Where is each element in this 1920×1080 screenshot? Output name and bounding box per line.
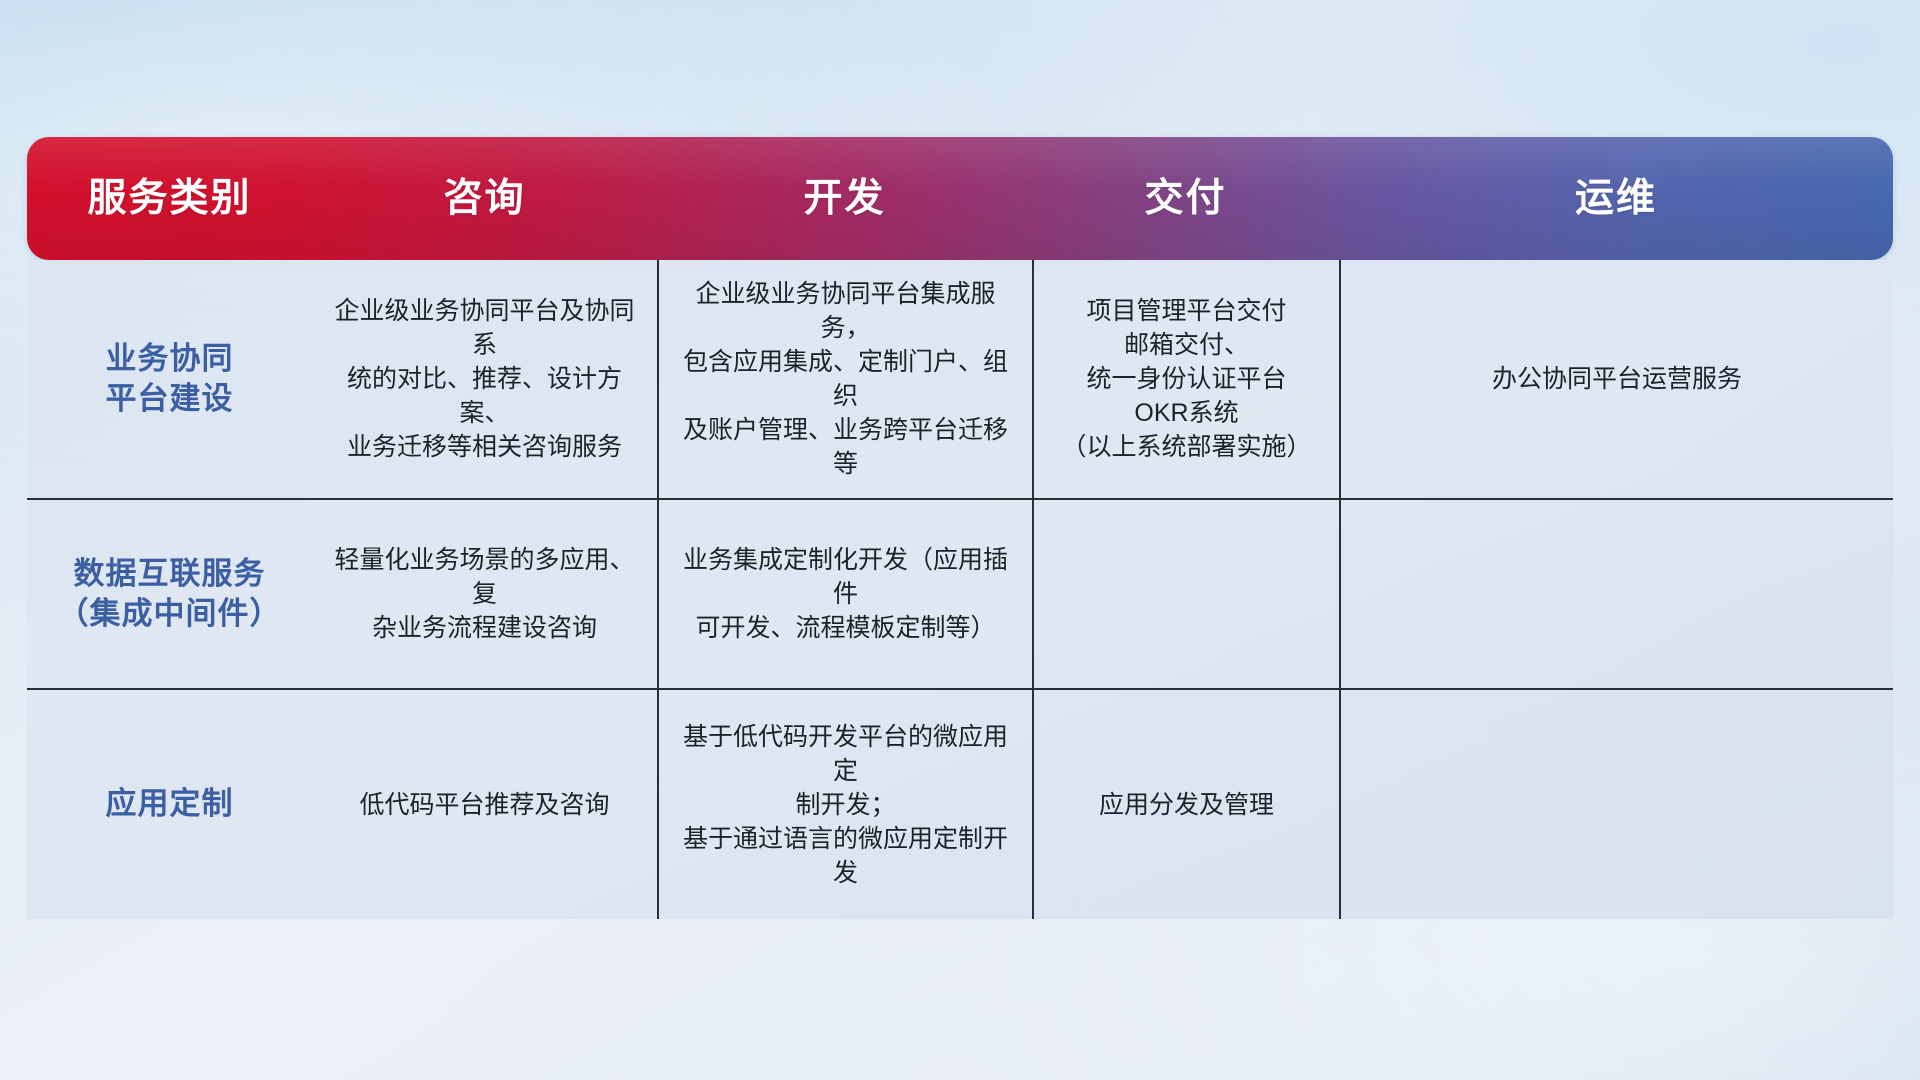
column-header-development: 开发: [657, 179, 1032, 218]
cell-development-r1: 业务集成定制化开发（应用插件 可开发、流程模板定制等）: [657, 500, 1032, 688]
table-body: 业务协同 平台建设 企业级业务协同平台及协同系 统的对比、推荐、设计方案、 业务…: [27, 260, 1893, 919]
column-header-operations: 运维: [1339, 179, 1893, 218]
cell-development-r2: 基于低代码开发平台的微应用定 制开发； 基于通过语言的微应用定制开发: [657, 690, 1032, 919]
row-label-business-collaboration: 业务协同 平台建设: [27, 260, 312, 498]
column-header-consulting: 咨询: [312, 179, 657, 218]
cell-operations-r0: 办公协同平台运营服务: [1339, 260, 1893, 498]
table-row: 数据互联服务 （集成中间件） 轻量化业务场景的多应用、复 杂业务流程建设咨询 业…: [27, 498, 1893, 688]
cell-delivery-r2: 应用分发及管理: [1032, 690, 1339, 919]
cell-delivery-r1: [1032, 500, 1339, 688]
column-header-category: 服务类别: [27, 179, 312, 218]
table-header-row: 服务类别 咨询 开发 交付 运维: [27, 137, 1893, 260]
row-label-data-interconnect: 数据互联服务 （集成中间件）: [27, 500, 312, 688]
table-row: 业务协同 平台建设 企业级业务协同平台及协同系 统的对比、推荐、设计方案、 业务…: [27, 260, 1893, 498]
service-matrix-table: 服务类别 咨询 开发 交付 运维 业务协同 平台建设 企业级业务协同平台及协同系…: [27, 137, 1893, 957]
cell-operations-r1: [1339, 500, 1893, 688]
cell-development-r0: 企业级业务协同平台集成服务， 包含应用集成、定制门户、组织 及账户管理、业务跨平…: [657, 260, 1032, 498]
column-header-delivery: 交付: [1032, 179, 1339, 218]
cell-operations-r2: [1339, 690, 1893, 919]
row-label-app-customization: 应用定制: [27, 690, 312, 919]
cell-consulting-r2: 低代码平台推荐及咨询: [312, 690, 657, 919]
cell-consulting-r1: 轻量化业务场景的多应用、复 杂业务流程建设咨询: [312, 500, 657, 688]
cell-consulting-r0: 企业级业务协同平台及协同系 统的对比、推荐、设计方案、 业务迁移等相关咨询服务: [312, 260, 657, 498]
cell-delivery-r0: 项目管理平台交付 邮箱交付、 统一身份认证平台 OKR系统 （以上系统部署实施）: [1032, 260, 1339, 498]
table-row: 应用定制 低代码平台推荐及咨询 基于低代码开发平台的微应用定 制开发； 基于通过…: [27, 688, 1893, 919]
